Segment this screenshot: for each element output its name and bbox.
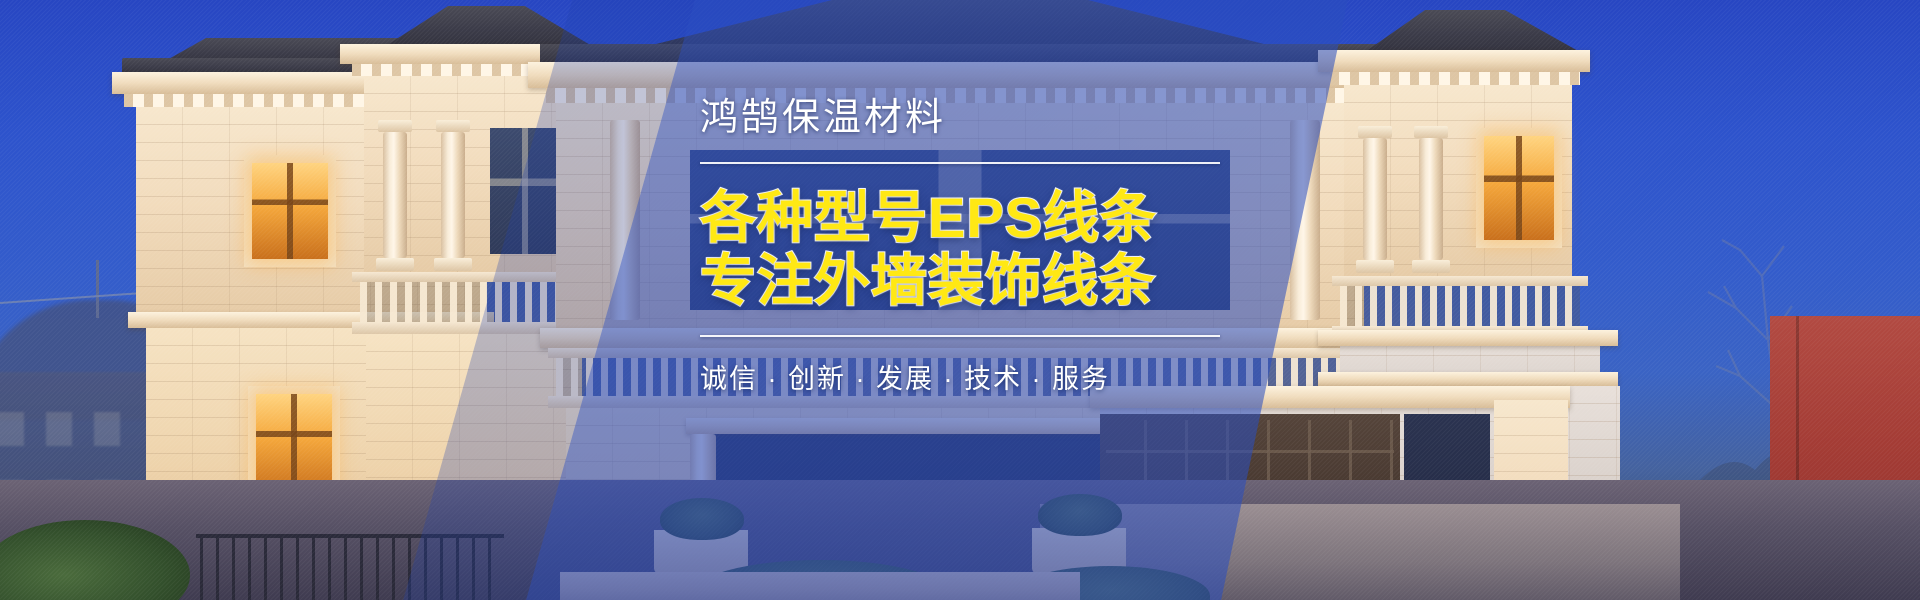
center-pilaster-2: [1290, 120, 1320, 320]
divider-bottom: [700, 335, 1220, 337]
left-tower-window: [490, 128, 560, 254]
left-tower-capital-1: [378, 120, 412, 132]
iron-railing-top: [196, 534, 504, 538]
left-tower-column-1: [383, 132, 407, 258]
entry-lintel: [686, 418, 1154, 434]
left-upper-window: [252, 163, 328, 259]
left-tower-base-2: [434, 258, 472, 271]
right-tower-column-1: [1363, 138, 1387, 260]
shrub-left: [660, 498, 744, 540]
iron-railing: [200, 536, 500, 600]
center-roof-eave: [540, 44, 1380, 64]
left-tower-base-1: [376, 258, 414, 271]
hero-banner: 鸿鹄保温材料 各种型号EPS线条 专注外墙装饰线条 诚信 · 创新 · 发展 ·…: [0, 0, 1920, 600]
right-balcony-cap: [1332, 276, 1588, 286]
left-lower-window: [256, 394, 332, 492]
garage-cornice-1: [1318, 330, 1618, 346]
tagline: 诚信 · 创新 · 发展 · 技术 · 服务: [700, 357, 1220, 396]
divider-top: [700, 162, 1220, 164]
right-balcony-balusters: [1340, 286, 1580, 326]
headline-line-2: 专注外墙装饰线条: [700, 249, 1220, 313]
front-steps: [560, 572, 1080, 600]
right-tower-capital-2: [1414, 126, 1448, 138]
right-tower-base-1: [1356, 260, 1394, 273]
right-tower-base-2: [1412, 260, 1450, 273]
left-tower-column-2: [441, 132, 465, 258]
right-tower-capital-1: [1358, 126, 1392, 138]
right-tower-column-2: [1419, 138, 1443, 260]
company-name: 鸿鹄保温材料: [700, 96, 1220, 142]
shrub-right: [1038, 494, 1122, 536]
center-cornice: [528, 62, 1392, 88]
center-roof: [560, 0, 1360, 48]
left-tower-capital-2: [436, 120, 470, 132]
right-tower-cornice: [1318, 50, 1590, 72]
right-tower-window: [1484, 136, 1554, 240]
center-pilaster-1: [610, 120, 640, 320]
banner-text-block: 鸿鹄保温材料 各种型号EPS线条 专注外墙装饰线条 诚信 · 创新 · 发展 ·…: [700, 96, 1220, 396]
garage-cornice-2: [1318, 372, 1618, 386]
headline-line-1: 各种型号EPS线条: [700, 186, 1220, 250]
right-tower-dentils: [1330, 72, 1580, 85]
